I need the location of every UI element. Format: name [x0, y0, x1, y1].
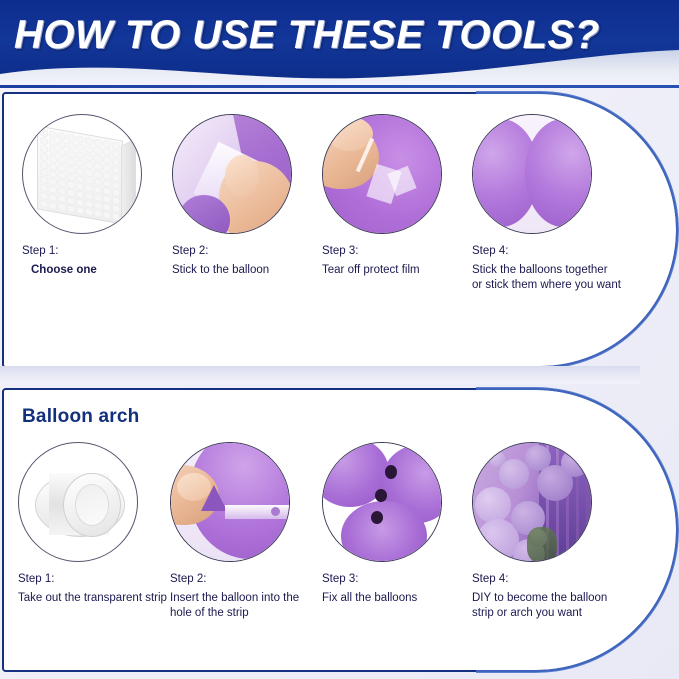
- art-layer: [19, 443, 137, 561]
- step-description: Take out the transparent strip: [18, 591, 168, 606]
- instruction-panel-glue-dots: Step 1: Choose one Step 2: Stick to the …: [2, 92, 678, 368]
- step-label: Step 2:: [170, 573, 320, 585]
- fingertip: [177, 473, 211, 501]
- step-description: Fix all the balloons: [322, 591, 472, 606]
- step-label: Step 3:: [322, 573, 472, 585]
- section-title-balloon-arch: Balloon arch: [22, 406, 139, 428]
- step-card-2-4: Step 4: DIY to become the balloon strip …: [472, 442, 622, 621]
- step-description: DIY to become the balloon strip or arch …: [472, 591, 622, 620]
- art-layer: [323, 443, 441, 561]
- step-label: Step 1:: [22, 245, 172, 257]
- step-label: Step 4:: [472, 245, 622, 257]
- art-layer: [171, 443, 289, 561]
- foliage: [527, 527, 557, 562]
- tape-roll-hole: [75, 484, 109, 526]
- glue-dots-sheet-image: [22, 114, 142, 234]
- balloon-knot: [375, 489, 387, 502]
- step-card-1-1: Step 1: Choose one: [22, 114, 172, 278]
- balloon-knot: [385, 465, 397, 479]
- balloon-knot: [371, 511, 383, 524]
- step-label: Step 3:: [322, 245, 472, 257]
- step-card-1-3: Step 3: Tear off protect film: [322, 114, 472, 278]
- three-balloons-fixed-cluster-image: [322, 442, 442, 562]
- art-layer: [323, 115, 441, 233]
- step-label: Step 1:: [18, 573, 168, 585]
- step-card-2-1: Step 1: Take out the transparent strip: [18, 442, 168, 606]
- step-card-1-4: Step 4: Stick the balloons together or s…: [472, 114, 622, 293]
- page-header: HOW TO USE THESE TOOLS?: [0, 0, 679, 88]
- step-card-2-3: Step 3: Fix all the balloons: [322, 442, 472, 606]
- art-layer: [173, 115, 291, 233]
- header-underline: [0, 85, 679, 88]
- two-balloons-stuck-together-image: [472, 114, 592, 234]
- arch-balloon: [561, 449, 589, 477]
- transparent-tape-roll-image: [18, 442, 138, 562]
- glue-dot-grid: [37, 125, 123, 224]
- step-description: Tear off protect film: [322, 263, 472, 278]
- page-title: HOW TO USE THESE TOOLS?: [14, 7, 674, 63]
- balloon-right: [525, 119, 592, 227]
- strip-hole: [271, 507, 280, 516]
- transparent-strip: [225, 505, 290, 519]
- purple-balloon-arch-decoration-image: [472, 442, 592, 562]
- instruction-panel-balloon-arch: Balloon arch Step 1: Take out the transp…: [2, 388, 678, 672]
- fingertip: [225, 155, 259, 197]
- balloon-bottom: [341, 501, 427, 562]
- step-description: Stick to the balloon: [172, 263, 322, 278]
- step-label: Step 4:: [472, 573, 622, 585]
- sheet-edge: [121, 138, 136, 232]
- step-description: Insert the balloon into the hole of the …: [170, 591, 320, 620]
- step-description: Stick the balloons together or stick the…: [472, 263, 622, 292]
- step-card-2-2: Step 2: Insert the balloon into the hole…: [170, 442, 320, 621]
- arch-balloon-small: [489, 451, 505, 467]
- panel-separator-band: [0, 366, 640, 384]
- hand-tearing-protect-film-image: [322, 114, 442, 234]
- art-layer: [473, 115, 591, 233]
- step-card-1-2: Step 2: Stick to the balloon: [172, 114, 322, 278]
- page-root: HOW TO USE THESE TOOLS?: [0, 0, 679, 679]
- step-description: Choose one: [22, 263, 172, 278]
- arch-balloon: [475, 487, 511, 523]
- step-label: Step 2:: [172, 245, 322, 257]
- hand-sticking-film-to-balloon-image: [172, 114, 292, 234]
- art-layer: [473, 443, 591, 561]
- hand-inserting-balloon-into-strip-image: [170, 442, 290, 562]
